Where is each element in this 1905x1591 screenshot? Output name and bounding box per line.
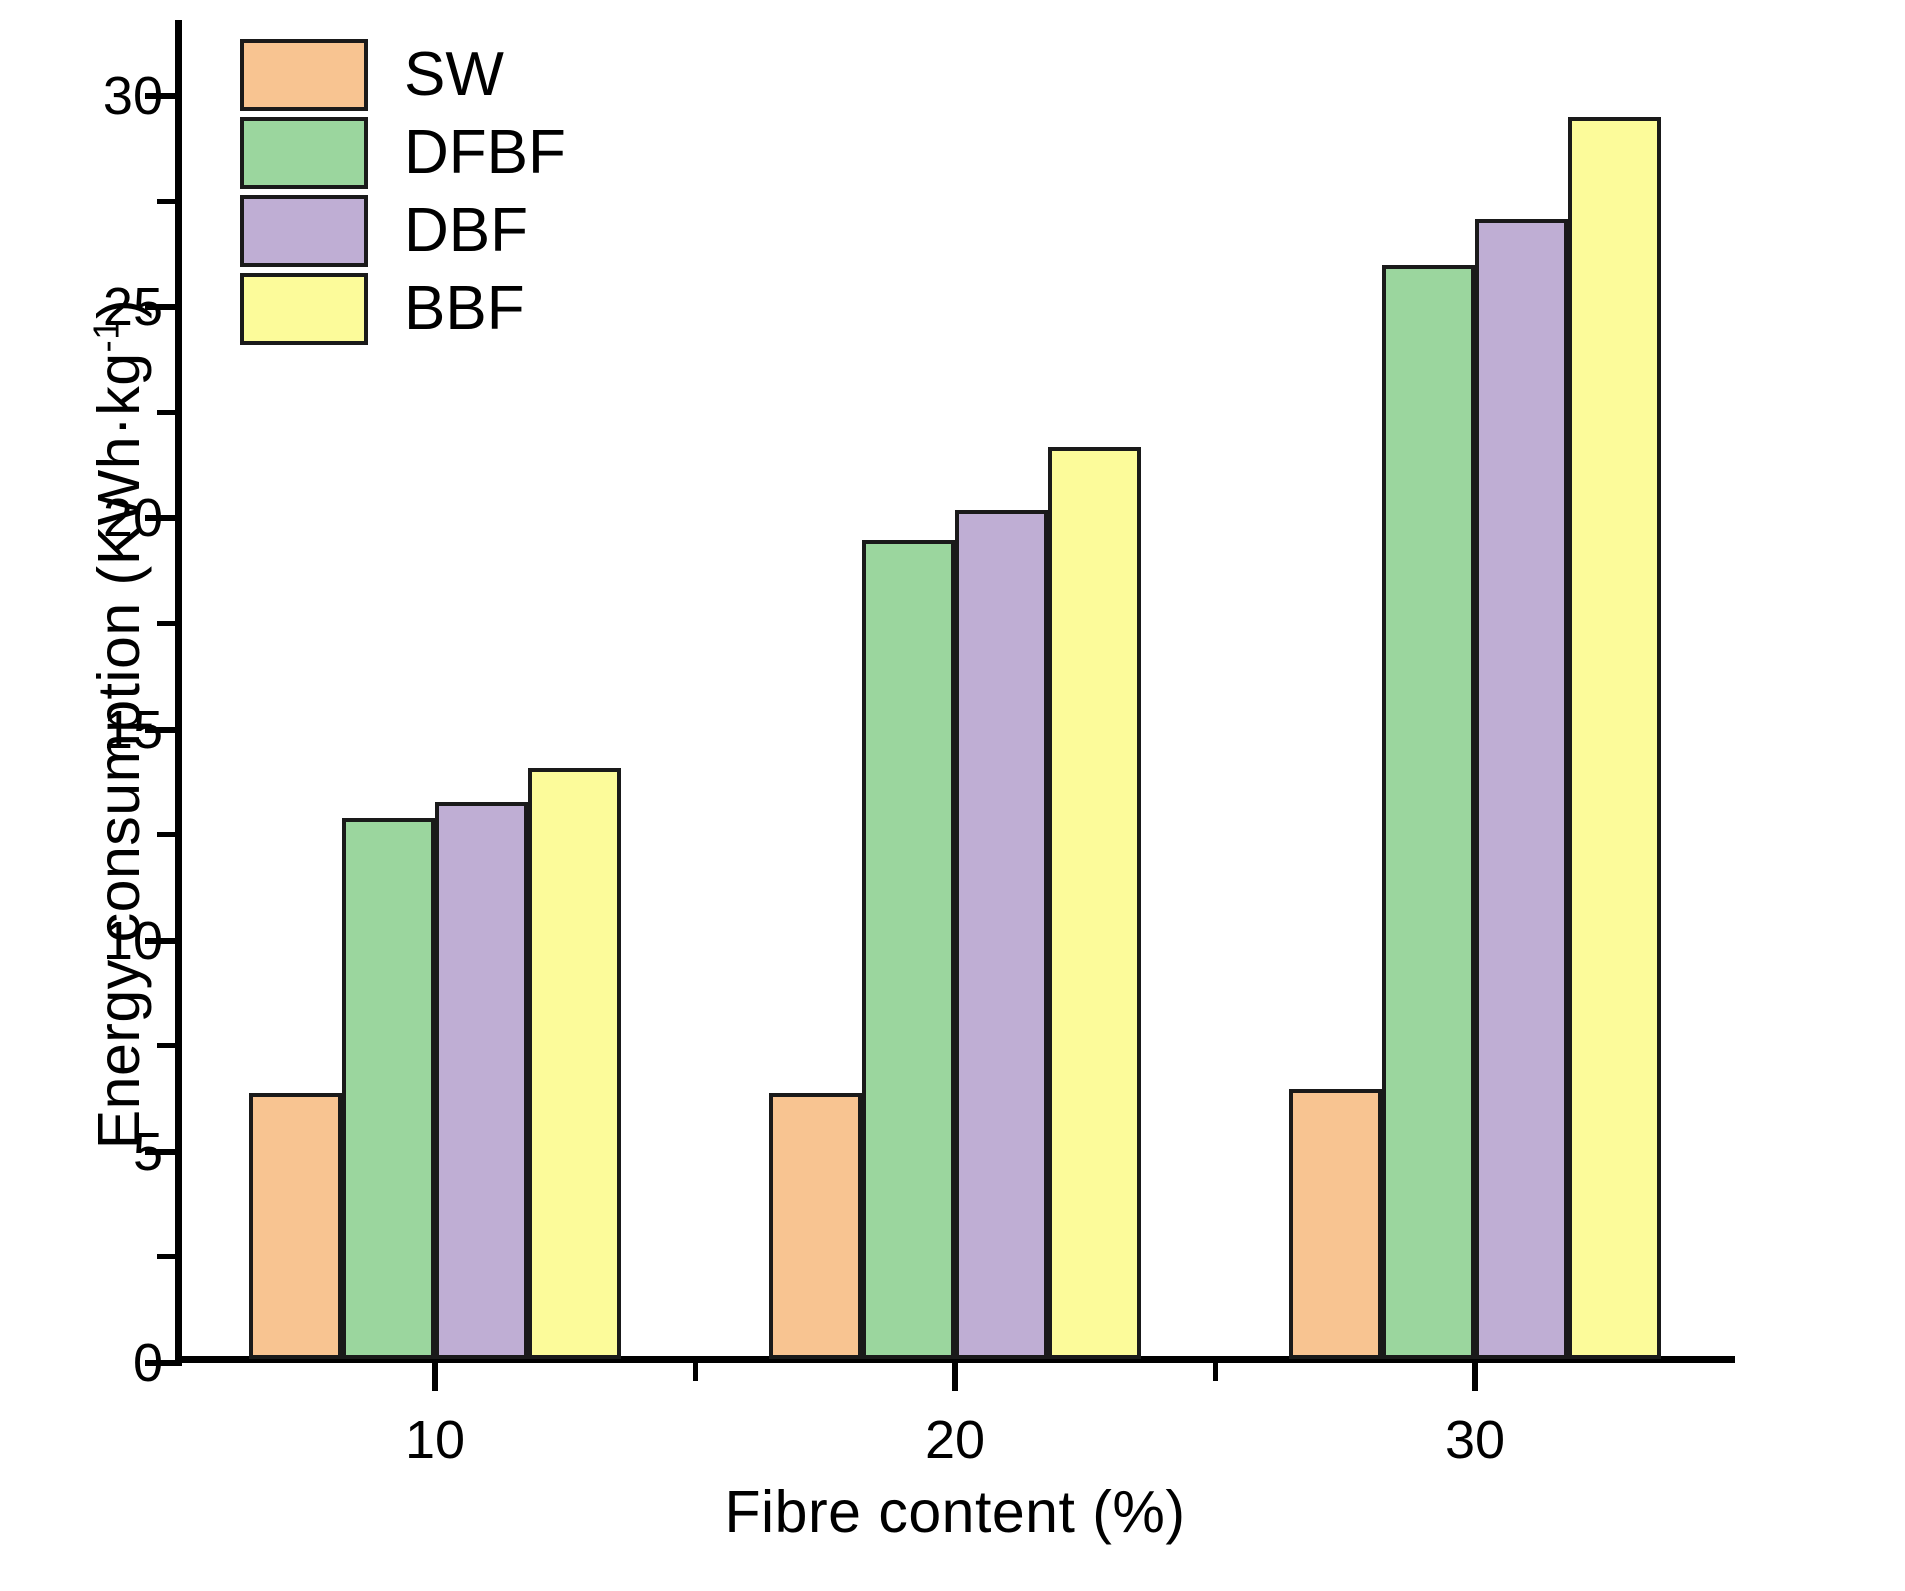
legend-item-dbf[interactable]: DBF — [240, 194, 566, 268]
y-tick-minor — [157, 621, 175, 626]
y-tick-label: 0 — [133, 1336, 163, 1390]
x-tick-minor — [1213, 1363, 1218, 1381]
y-tick-label: 25 — [103, 280, 163, 334]
y-tick-label: 20 — [103, 491, 163, 545]
x-tick-major — [1472, 1363, 1478, 1391]
y-tick-label: 15 — [103, 703, 163, 757]
bar-bbf-30 — [1568, 117, 1661, 1359]
y-tick-minor — [157, 1254, 175, 1259]
bar-dfbf-30 — [1382, 265, 1475, 1359]
bar-sw-30 — [1289, 1089, 1382, 1359]
bar-dbf-20 — [955, 510, 1048, 1359]
y-tick-label: 5 — [133, 1125, 163, 1179]
bar-dbf-30 — [1475, 219, 1568, 1359]
y-tick-minor — [157, 199, 175, 204]
bar-sw-20 — [769, 1093, 862, 1359]
y-axis-line — [175, 20, 182, 1366]
bar-dbf-10 — [435, 802, 528, 1359]
legend-swatch-sw — [240, 39, 368, 111]
y-tick-minor — [157, 1043, 175, 1048]
legend-label-dbf: DBF — [404, 200, 528, 262]
bar-dfbf-10 — [342, 818, 435, 1359]
y-tick-label: 10 — [103, 914, 163, 968]
legend-swatch-dfbf — [240, 117, 368, 189]
legend-label-sw: SW — [404, 44, 504, 106]
legend-swatch-bbf — [240, 273, 368, 345]
x-tick-label: 30 — [1445, 1413, 1505, 1467]
x-tick-major — [952, 1363, 958, 1391]
legend-item-bbf[interactable]: BBF — [240, 272, 566, 346]
bar-sw-10 — [249, 1093, 342, 1359]
y-tick-minor — [157, 410, 175, 415]
bar-bbf-10 — [528, 768, 621, 1359]
x-tick-major — [432, 1363, 438, 1391]
x-tick-label: 10 — [405, 1413, 465, 1467]
y-tick-label: 30 — [103, 69, 163, 123]
legend-item-sw[interactable]: SW — [240, 38, 566, 112]
chart-legend: SWDFBFDBFBBF — [240, 38, 566, 346]
x-axis-title: Fibre content (%) — [175, 1478, 1735, 1546]
x-tick-minor — [693, 1363, 698, 1381]
legend-swatch-dbf — [240, 195, 368, 267]
x-tick-label: 20 — [925, 1413, 985, 1467]
legend-item-dfbf[interactable]: DFBF — [240, 116, 566, 190]
y-tick-minor — [157, 832, 175, 837]
chart-figure: Energy consumption (KWh·kg-1) Fibre cont… — [0, 0, 1905, 1591]
bar-bbf-20 — [1048, 447, 1141, 1359]
legend-label-dfbf: DFBF — [404, 122, 566, 184]
bar-dfbf-20 — [862, 540, 955, 1359]
legend-label-bbf: BBF — [404, 278, 525, 340]
